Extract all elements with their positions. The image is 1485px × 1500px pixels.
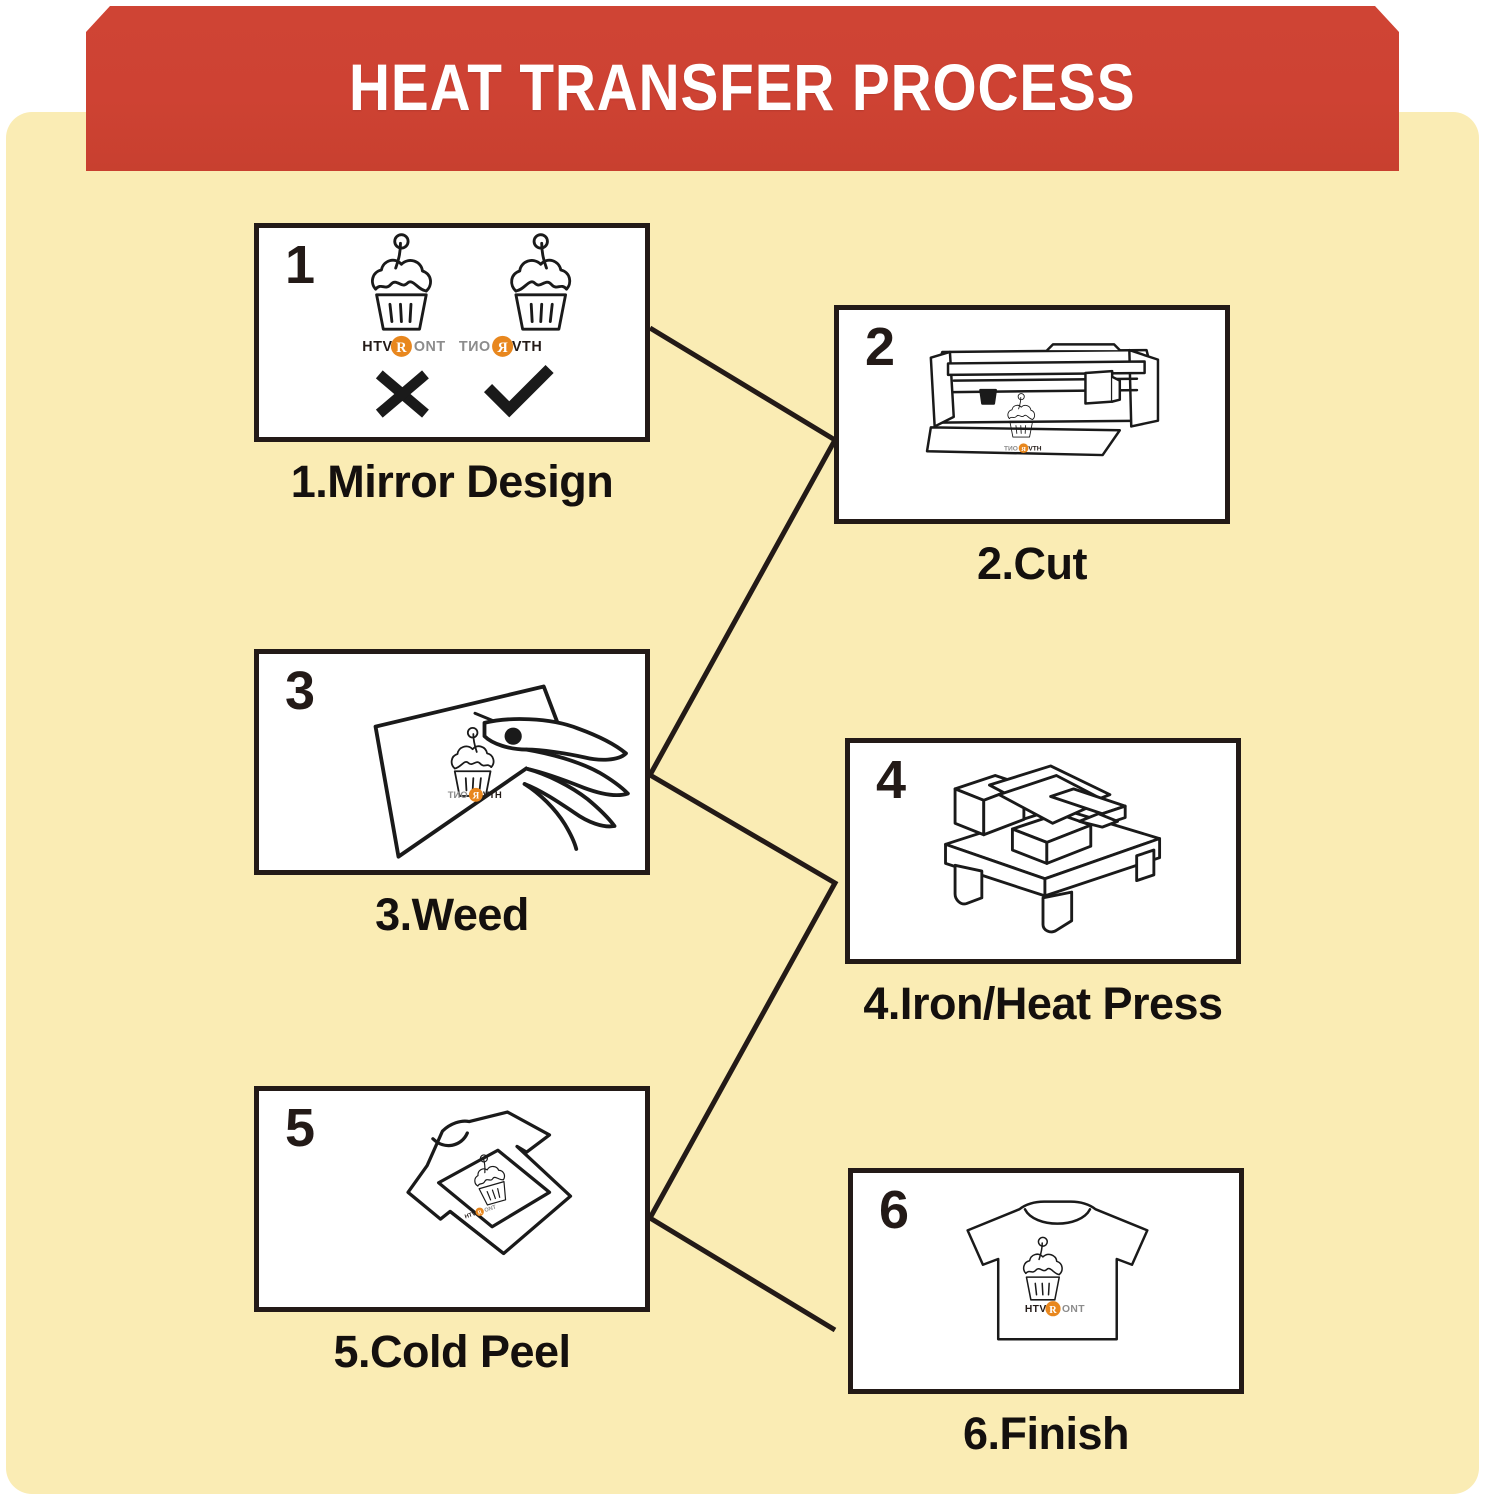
cold-peel-tshirt-icon: HTV R ONT [259,1091,645,1307]
svg-text:R: R [472,792,479,802]
step-1-label: 1.Mirror Design [254,456,650,508]
svg-text:ONT: ONT [447,790,467,801]
svg-text:HTV: HTV [482,790,502,801]
step-2-label: 2.Cut [834,538,1230,590]
svg-text:HTV: HTV [1025,1304,1047,1315]
vinyl-cutter-icon: HTV R ONT [839,310,1225,519]
cross-mark [383,378,421,410]
check-mark [492,373,545,409]
step-2-panel: 2 [834,305,1230,524]
step-4-label: 4.Iron/Heat Press [845,978,1241,1030]
step-3-panel: 3 HTV R ONT [254,649,650,875]
step-4: 4 [845,738,1241,1030]
poster-banner: HEAT TRANSFER PROCESS [86,6,1399,171]
step-2: 2 [834,305,1230,590]
step-6: 6 HTV R ON [848,1168,1244,1460]
step-5-panel: 5 [254,1086,650,1312]
poster-title: HEAT TRANSFER PROCESS [349,49,1135,125]
svg-text:R: R [1021,446,1026,453]
weeder-tool-tip [505,728,522,745]
mirror-design-icon: HTV R ONT HTV R ONT [259,228,645,437]
finished-tshirt-icon: HTV R ONT [853,1173,1239,1389]
step-5-label: 5.Cold Peel [254,1326,650,1378]
svg-text:R: R [1049,1305,1057,1316]
weeding-hand-icon: HTV R ONT [259,654,645,870]
brand-logo-mirrored: HTV R ONT [458,336,541,357]
step-1-panel: 1 [254,223,650,442]
step-3: 3 HTV R ONT [254,649,650,941]
poster-background [6,112,1479,1494]
step-6-panel: 6 HTV R ON [848,1168,1244,1394]
svg-text:ONT: ONT [458,339,490,355]
svg-text:ONT: ONT [1062,1304,1085,1315]
brand-logo-small-mirrored: HTV R ONT [447,788,501,802]
svg-text:HTV: HTV [362,339,392,355]
step-6-label: 6.Finish [848,1408,1244,1460]
svg-text:R: R [497,340,508,356]
step-3-label: 3.Weed [254,889,650,941]
step-4-panel: 4 [845,738,1241,964]
svg-text:ONT: ONT [414,339,446,355]
infographic-poster: HEAT TRANSFER PROCESS 1 [0,0,1485,1500]
svg-text:HTV: HTV [511,339,541,355]
svg-text:ONT: ONT [1004,445,1018,452]
svg-text:R: R [396,340,407,356]
step-5: 5 [254,1086,650,1378]
svg-text:HTV: HTV [1028,445,1042,452]
brand-logo-normal: HTV R ONT [362,336,445,357]
step-1: 1 [254,223,650,508]
heat-press-icon [850,743,1236,959]
